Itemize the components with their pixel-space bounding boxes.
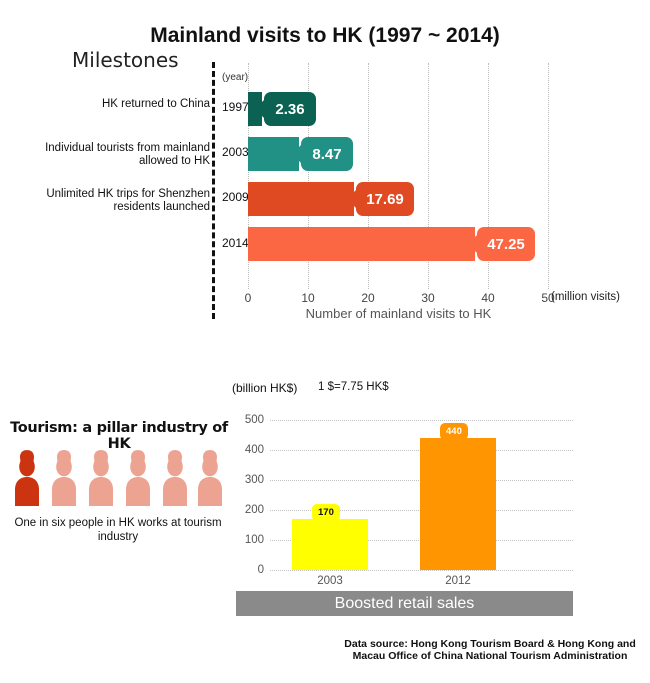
ytick-300: 300 <box>230 474 264 486</box>
bar-value-2012-retail-text: 440 <box>446 426 462 437</box>
person-icon-1 <box>15 450 39 506</box>
retail-sales-plot: 500 400 300 200 100 0 170 440 2003 2012 <box>270 420 573 570</box>
people-icon-group <box>14 448 224 508</box>
bar-value-1997: 2.36 <box>264 92 316 126</box>
person-icon-4 <box>126 450 150 506</box>
bar-value-2003-text: 8.47 <box>312 146 341 163</box>
bar-value-1997-text: 2.36 <box>275 101 304 118</box>
milestones-heading: Milestones <box>72 48 217 72</box>
xaxis-unit-label: (million visits) <box>551 291 620 303</box>
xtick-30: 30 <box>421 291 434 305</box>
ytick-0: 0 <box>230 564 264 576</box>
ytick-200: 200 <box>230 504 264 516</box>
ytick-500: 500 <box>230 414 264 426</box>
xaxis-title: Number of mainland visits to HK <box>248 306 549 321</box>
vertical-dashed-divider <box>212 62 215 319</box>
person-icon-2 <box>52 450 76 506</box>
milestone-annotation-2009: Unlimited HK trips for Shenzhen resident… <box>15 188 210 214</box>
milestone-annotation-2003: Individual tourists from mainland allowe… <box>15 142 210 168</box>
xtick-2003: 2003 <box>317 575 343 587</box>
exchange-rate-note: 1 $=7.75 HK$ <box>318 381 389 393</box>
xtick-10: 10 <box>301 291 314 305</box>
yaxis-unit-label: (billion HK$) <box>232 381 297 395</box>
ytick-400: 400 <box>230 444 264 456</box>
bar-value-2003-retail-text: 170 <box>318 507 334 518</box>
retail-sales-banner: Boosted retail sales <box>236 591 573 616</box>
year-unit-label: (year) <box>222 72 248 83</box>
page-title: Mainland visits to HK (1997 ~ 2014) <box>0 24 650 48</box>
bar-value-2003-retail: 170 <box>312 504 340 521</box>
bar-value-2012-retail: 440 <box>440 423 468 440</box>
gridline-500 <box>270 420 573 421</box>
person-icon-3 <box>89 450 113 506</box>
bar-2012-retail[interactable] <box>420 438 496 570</box>
xtick-2012: 2012 <box>445 575 471 587</box>
bar-value-2003: 8.47 <box>301 137 353 171</box>
bar-value-2014: 47.25 <box>477 227 535 261</box>
gridline-50 <box>548 63 549 289</box>
person-icon-6 <box>198 450 222 506</box>
milestone-annotation-1997: HK returned to China <box>15 98 210 111</box>
pillar-caption: One in six people in HK works at tourism… <box>4 516 232 544</box>
bar-value-2009-text: 17.69 <box>366 191 404 208</box>
person-icon-5 <box>163 450 187 506</box>
bar-2014[interactable] <box>248 227 475 261</box>
gridline-0 <box>270 570 573 571</box>
people-pictogram <box>14 448 224 510</box>
data-source-note: Data source: Hong Kong Tourism Board & H… <box>330 638 650 662</box>
xtick-20: 20 <box>361 291 374 305</box>
mainland-visits-plot: 2.36 8.47 17.69 47.25 0 10 20 30 40 50 <box>248 63 549 289</box>
bar-2009[interactable] <box>248 182 354 216</box>
bar-value-2009: 17.69 <box>356 182 414 216</box>
xtick-0: 0 <box>245 291 252 305</box>
xtick-40: 40 <box>481 291 494 305</box>
ytick-100: 100 <box>230 534 264 546</box>
bar-value-2014-text: 47.25 <box>487 236 525 253</box>
